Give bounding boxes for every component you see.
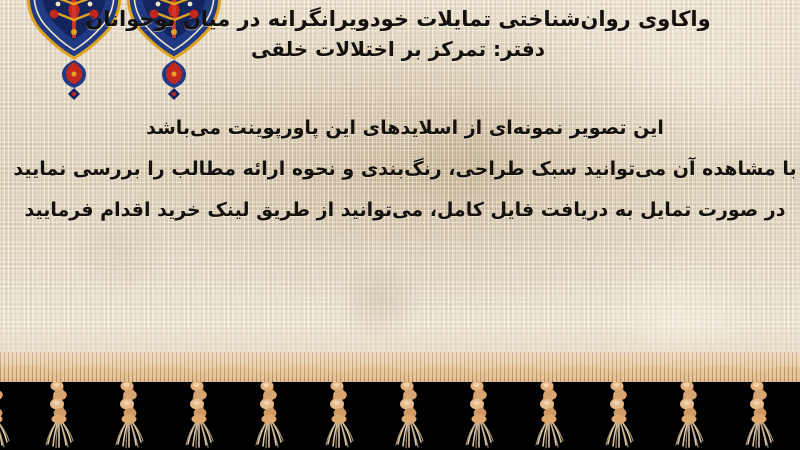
slide-title-block: واکاوی روان‌شناختی تمایلات خودویرانگرانه… (6, 4, 790, 65)
body-line-1: این تصویر نمونه‌ای از اسلایدهای این پاور… (10, 108, 800, 149)
slide-subtitle: دفتر: تمرکز بر اختلالات خلقی (6, 35, 790, 65)
slide-text-layer: واکاوی روان‌شناختی تمایلات خودویرانگرانه… (0, 0, 800, 375)
slide-title: واکاوی روان‌شناختی تمایلات خودویرانگرانه… (6, 4, 790, 35)
body-line-3: در صورت تمایل به دریافت فایل کامل، می‌تو… (10, 190, 800, 231)
body-line-2: با مشاهده آن می‌توانید سبک طراحی، رنگ‌بن… (10, 149, 800, 190)
slide-canvas: واکاوی روان‌شناختی تمایلات خودویرانگرانه… (0, 0, 800, 450)
bottom-black-band (0, 375, 800, 450)
slide-body-block: این تصویر نمونه‌ای از اسلایدهای این پاور… (10, 108, 800, 231)
